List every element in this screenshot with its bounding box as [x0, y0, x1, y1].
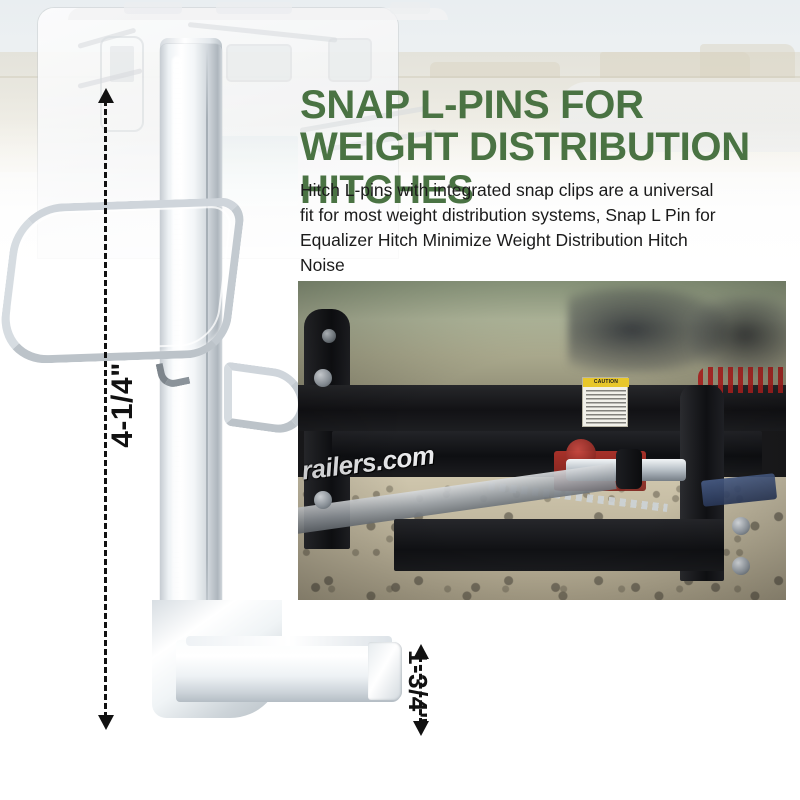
- product-application-photo: CAUTION railers.com: [298, 281, 786, 600]
- hitch-bolt: [732, 517, 750, 535]
- rv-roof-vent: [390, 2, 430, 14]
- dimension-foot: 1-3/4": [413, 644, 429, 736]
- snap-clip-highlight: [5, 205, 233, 352]
- caution-sticker-text-lines: [586, 390, 626, 424]
- product-l-pin: [0, 0, 300, 760]
- hitch-lower-bar: [394, 519, 724, 571]
- dimension-height: 4-1/4": [98, 88, 114, 730]
- snap-clip-bend-knot: [156, 358, 191, 390]
- caution-sticker: CAUTION: [582, 377, 628, 427]
- pin-foot-top-face: [186, 636, 392, 646]
- dimension-foot-label: 1-3/4": [402, 650, 433, 725]
- hitch-bolt: [314, 369, 332, 387]
- rv-window: [328, 38, 372, 82]
- pin-foot-end-face: [368, 642, 402, 700]
- dimension-height-label: 4-1/4": [106, 362, 140, 448]
- snap-clip-wire-tail: [224, 361, 306, 437]
- hitch-bolt: [322, 329, 336, 343]
- installed-l-pin-head: [616, 449, 642, 489]
- snap-clip-assembly: [0, 195, 300, 395]
- mesa-shape: [700, 44, 795, 78]
- photo-blurred-person: [690, 297, 786, 373]
- product-description: Hitch L-pins with integrated snap clips …: [300, 178, 730, 277]
- hitch-bolt: [732, 557, 750, 575]
- dimension-arrow-down-icon: [98, 715, 114, 730]
- caution-sticker-header: CAUTION: [583, 378, 629, 387]
- product-banner: 4-1/4" 1-3/4" SNAP L-PINS FOR WEIGHT DIS…: [0, 0, 800, 800]
